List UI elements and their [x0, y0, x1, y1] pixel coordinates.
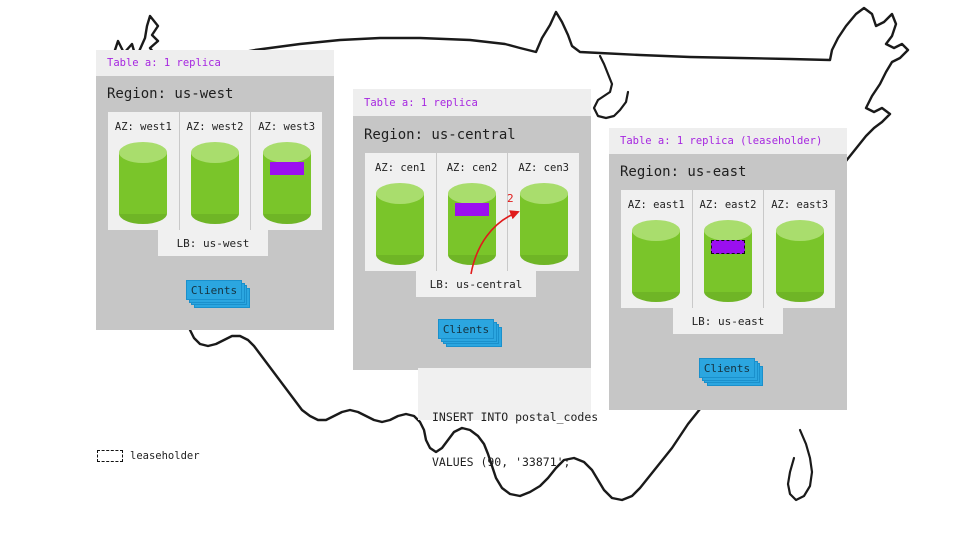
cylinder-top [376, 183, 424, 204]
node-cylinder-west3[interactable] [263, 142, 311, 224]
node-cylinder-east3[interactable] [776, 220, 824, 302]
az-label: AZ: east3 [771, 199, 828, 211]
cylinder-top [448, 183, 496, 204]
az-label: AZ: west2 [187, 121, 244, 133]
az-cell-west3[interactable]: AZ: west3 [250, 112, 322, 230]
clients-stack-us-east[interactable]: Clients [699, 358, 763, 386]
clients-label[interactable]: Clients [699, 358, 755, 378]
az-cell-east2[interactable]: AZ: east2 [692, 190, 764, 308]
replica-block-leaseholder[interactable] [711, 240, 745, 254]
az-label: AZ: west1 [115, 121, 172, 133]
clients-label[interactable]: Clients [186, 280, 242, 300]
az-label: AZ: east2 [700, 199, 757, 211]
az-label: AZ: east1 [628, 199, 685, 211]
clients-stack-us-central[interactable]: Clients [438, 319, 502, 347]
az-label: AZ: west3 [258, 121, 315, 133]
region-header-text: Table a: 1 replica [107, 57, 221, 69]
cylinder-top [263, 142, 311, 163]
region-header-us-east: Table a: 1 replica (leaseholder) [609, 128, 847, 154]
region-header-us-central: Table a: 1 replica [353, 89, 591, 116]
clients-stack-us-west[interactable]: Clients [186, 280, 250, 308]
az-label: AZ: cen2 [447, 162, 498, 174]
node-cylinder-east1[interactable] [632, 220, 680, 302]
az-label: AZ: cen1 [375, 162, 426, 174]
sql-line-1: INSERT INTO postal_codes [432, 410, 577, 425]
az-cell-east1[interactable]: AZ: east1 [621, 190, 692, 308]
replica-block[interactable] [455, 203, 489, 216]
map-florida-stroke [788, 430, 812, 500]
az-cell-west2[interactable]: AZ: west2 [179, 112, 251, 230]
az-strip-us-central: AZ: cen1 AZ: cen2 AZ: cen3 [365, 153, 579, 271]
diagram-canvas: Table a: 1 replica Region: us-west AZ: w… [0, 0, 960, 540]
cylinder-top [520, 183, 568, 204]
node-cylinder-cen1[interactable] [376, 183, 424, 265]
region-title-us-east: Region: us-east [620, 164, 746, 180]
clients-label[interactable]: Clients [438, 319, 494, 339]
az-label: AZ: cen3 [518, 162, 569, 174]
az-cell-west1[interactable]: AZ: west1 [108, 112, 179, 230]
load-balancer-us-central[interactable]: LB: us-central [416, 271, 536, 297]
region-header-text: Table a: 1 replica [364, 97, 478, 109]
cylinder-top [704, 220, 752, 241]
sql-line-2: VALUES (90, '33871'; [432, 455, 577, 470]
cylinder-top [632, 220, 680, 241]
region-header-text: Table a: 1 replica (leaseholder) [620, 135, 822, 147]
node-cylinder-west1[interactable] [119, 142, 167, 224]
region-header-us-west: Table a: 1 replica [96, 50, 334, 76]
az-cell-cen2[interactable]: AZ: cen2 [436, 153, 508, 271]
region-title-us-west: Region: us-west [107, 86, 233, 102]
region-title-us-central: Region: us-central [364, 127, 516, 143]
sql-statement-box: INSERT INTO postal_codes VALUES (90, '33… [418, 368, 591, 420]
az-cell-cen3[interactable]: AZ: cen3 [507, 153, 579, 271]
arrow-step-label: 2 [507, 192, 514, 205]
az-cell-east3[interactable]: AZ: east3 [763, 190, 835, 308]
cylinder-top [119, 142, 167, 163]
load-balancer-us-east[interactable]: LB: us-east [673, 308, 783, 334]
az-cell-cen1[interactable]: AZ: cen1 [365, 153, 436, 271]
region-panel-us-west: Table a: 1 replica Region: us-west AZ: w… [96, 50, 334, 330]
load-balancer-us-west[interactable]: LB: us-west [158, 230, 268, 256]
cylinder-top [776, 220, 824, 241]
node-cylinder-east2[interactable] [704, 220, 752, 302]
replica-block[interactable] [270, 162, 304, 175]
map-lakes-stroke [594, 56, 628, 118]
legend-label: leaseholder [130, 450, 200, 462]
region-panel-us-east: Table a: 1 replica (leaseholder) Region:… [609, 128, 847, 410]
az-strip-us-east: AZ: east1 AZ: east2 AZ: east3 [621, 190, 835, 308]
node-cylinder-cen3[interactable] [520, 183, 568, 265]
node-cylinder-cen2[interactable] [448, 183, 496, 265]
cylinder-top [191, 142, 239, 163]
legend: leaseholder [97, 450, 200, 462]
az-strip-us-west: AZ: west1 AZ: west2 AZ: west3 [108, 112, 322, 230]
dashed-rect-icon [97, 450, 123, 462]
region-panel-us-central: Table a: 1 replica Region: us-central AZ… [353, 89, 591, 370]
node-cylinder-west2[interactable] [191, 142, 239, 224]
